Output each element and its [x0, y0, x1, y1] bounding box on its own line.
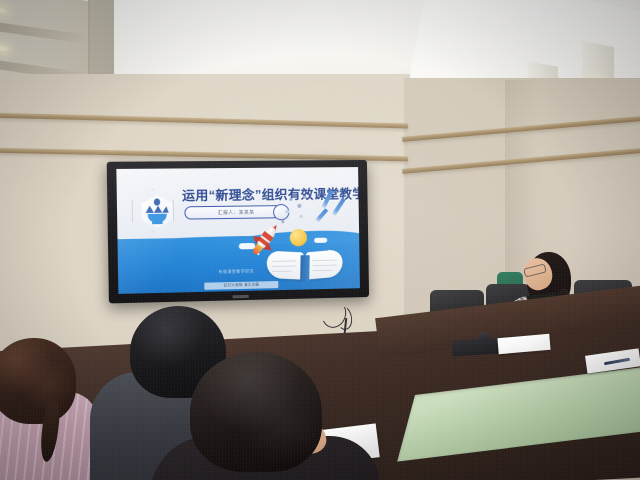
- hexagon-education-badge-icon: [131, 187, 174, 233]
- slide-footer-note: 有效课堂教学研究: [219, 269, 254, 275]
- tv-brand-plate: [232, 295, 248, 298]
- audience-man-dark-hair: [190, 352, 322, 472]
- ceiling-downlight: [0, 6, 7, 15]
- microphone-base[interactable]: [478, 331, 491, 341]
- open-book-illustration-icon: [267, 250, 344, 282]
- cloud-illustration-icon: [239, 243, 256, 249]
- confetti-dot: [281, 220, 284, 223]
- confetti-dot: [289, 198, 292, 201]
- confetti-square: [285, 210, 289, 213]
- confetti-dot: [303, 196, 306, 199]
- logo-head-shape: [154, 198, 160, 205]
- book-spine: [300, 255, 310, 281]
- slide-subtitle-bar: 汇报人：某某某: [184, 205, 287, 220]
- presentation-screen[interactable]: 运用“新理念”组织有效课堂教学 汇报人：某某某: [107, 160, 369, 303]
- slide-content: 运用“新理念”组织有效课堂教学 汇报人：某某某: [116, 167, 360, 294]
- confetti-dot: [297, 204, 301, 208]
- ceiling-downlight: [0, 44, 9, 53]
- audience-woman-hair: [0, 338, 76, 424]
- conference-room-photo: 运用“新理念”组织有效课堂教学 汇报人：某某某: [0, 0, 640, 480]
- ceiling-slat: [0, 21, 90, 45]
- slide-subtitle-text: 汇报人：某某某: [198, 207, 274, 217]
- cloud-illustration-icon: [314, 238, 327, 243]
- star-dot: [257, 253, 259, 255]
- logo-foot-shape: [152, 221, 163, 224]
- confetti-square: [300, 215, 303, 218]
